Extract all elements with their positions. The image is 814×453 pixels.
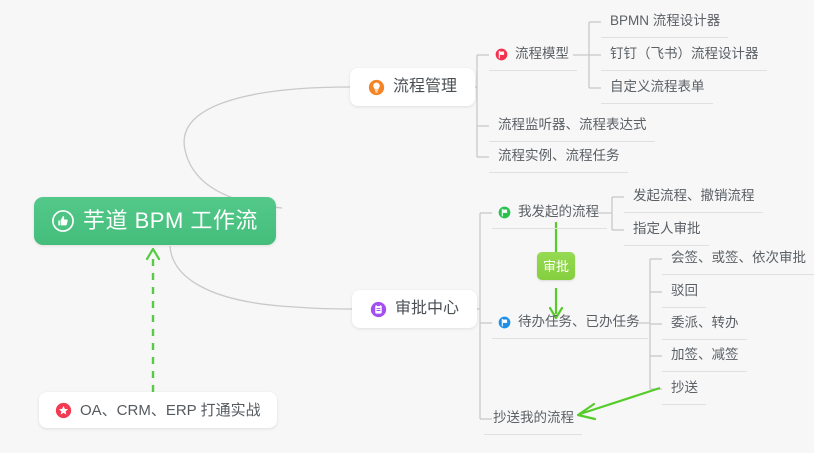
link-root-to-process-management [184, 87, 350, 208]
node-delegate-transfer[interactable]: 委派、转办 [662, 312, 747, 340]
node-process-model[interactable]: 流程模型 [489, 43, 577, 71]
branch-label: 审批中心 [395, 301, 459, 317]
link-root-to-approval-center [170, 246, 352, 309]
branch-label: 流程管理 [393, 79, 457, 95]
node-label: 自定义流程表单 [610, 80, 705, 94]
badge-label: 审批 [543, 260, 569, 273]
integration-note-node[interactable]: OA、CRM、ERP 打通实战 [39, 392, 277, 428]
node-bpmn-designer[interactable]: BPMN 流程设计器 [601, 10, 728, 38]
node-countersign[interactable]: 会签、或签、依次审批 [662, 247, 814, 275]
node-label: 我发起的流程 [518, 205, 599, 219]
node-process-listener[interactable]: 流程监听器、流程表达式 [489, 114, 655, 142]
node-add-remove-sign[interactable]: 加签、减签 [662, 344, 747, 372]
annotation-integration-arrowhead [147, 249, 159, 259]
flag-icon [498, 316, 511, 329]
node-launch-cancel-process[interactable]: 发起流程、撤销流程 [624, 185, 763, 213]
root-node[interactable]: 芋道 BPM 工作流 [34, 197, 276, 245]
node-label: 抄送 [671, 381, 698, 395]
node-todo-done-task[interactable]: 待办任务、已办任务 [492, 311, 648, 339]
branch-process-management[interactable]: 流程管理 [350, 68, 475, 106]
integration-note-label: OA、CRM、ERP 打通实战 [80, 403, 261, 418]
node-label: 发起流程、撤销流程 [633, 189, 755, 203]
node-reject[interactable]: 驳回 [662, 280, 706, 308]
branch-approval-center[interactable]: 审批中心 [352, 290, 477, 328]
root-label: 芋道 BPM 工作流 [83, 210, 258, 232]
node-assignee-approval[interactable]: 指定人审批 [624, 218, 709, 246]
node-my-started-process[interactable]: 我发起的流程 [492, 201, 607, 229]
node-process-instance[interactable]: 流程实例、流程任务 [489, 145, 628, 173]
node-label: 钉钉（飞书）流程设计器 [610, 47, 759, 61]
annotation-cc-arrow [580, 388, 660, 414]
flag-icon [495, 48, 508, 61]
thumbs-up-icon [52, 210, 74, 232]
node-label: 会签、或签、依次审批 [671, 251, 806, 265]
approval-badge[interactable]: 审批 [537, 252, 575, 280]
node-label: 委派、转办 [671, 316, 739, 330]
node-label: BPMN 流程设计器 [610, 14, 720, 28]
node-cc[interactable]: 抄送 [662, 377, 706, 405]
node-label: 驳回 [671, 284, 698, 298]
node-cc-my-process[interactable]: 抄送我的流程 [484, 407, 582, 435]
node-label: 流程实例、流程任务 [498, 149, 620, 163]
node-dingtalk-designer[interactable]: 钉钉（飞书）流程设计器 [601, 43, 767, 71]
node-label: 加签、减签 [671, 348, 739, 362]
node-label: 指定人审批 [633, 222, 701, 236]
node-label: 流程监听器、流程表达式 [498, 118, 647, 132]
node-label: 流程模型 [515, 47, 569, 61]
clipboard-icon [370, 301, 387, 318]
flag-icon [498, 206, 511, 219]
node-label: 抄送我的流程 [493, 411, 574, 425]
mindmap-canvas: 芋道 BPM 工作流 流程管理 流程模型 BPMN 流程设计器 钉钉（飞书）流程 [0, 0, 814, 453]
node-label: 待办任务、已办任务 [518, 315, 640, 329]
node-custom-form[interactable]: 自定义流程表单 [601, 76, 713, 104]
lightbulb-icon [368, 79, 385, 96]
star-icon [55, 402, 72, 419]
